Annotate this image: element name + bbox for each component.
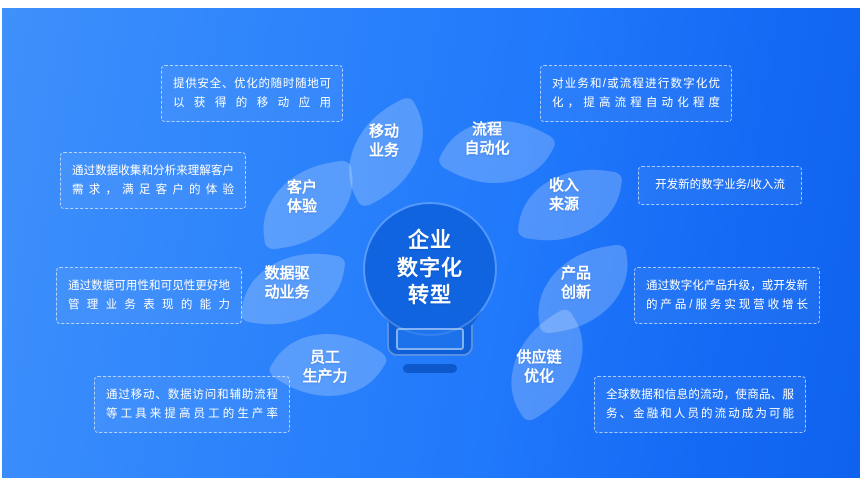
petal-label-line: 产品 bbox=[538, 264, 614, 283]
center-title: 企业 数字化 转型 bbox=[365, 204, 495, 334]
petal-label-mobile-business: 移动 业务 bbox=[349, 122, 419, 160]
callout-employee-productivity[interactable]: 通过移动、数据访问和辅助流程等工具来提高员工的生产率 bbox=[94, 376, 290, 433]
center-title-line: 企业 bbox=[408, 229, 452, 254]
petal-label-line: 移动 bbox=[349, 122, 419, 141]
petal-label-line: 自动化 bbox=[448, 139, 526, 158]
callout-product-innovation[interactable]: 通过数字化产品升级，或开发新的产品/服务实现营收增长 bbox=[634, 267, 820, 324]
petal-label-line: 创新 bbox=[538, 283, 614, 302]
petal-label-line: 体验 bbox=[264, 197, 340, 216]
center-title-line: 转型 bbox=[408, 284, 452, 309]
petal-label-line: 来源 bbox=[527, 195, 601, 214]
light-bulb-icon: 企业 数字化 转型 bbox=[365, 204, 495, 394]
petal-label-supply-chain-optimization: 供应链 优化 bbox=[498, 348, 580, 386]
callout-mobile-business[interactable]: 提供安全、优化的随时随地可以获得的移动应用 bbox=[161, 65, 343, 122]
bulb-base bbox=[403, 364, 457, 373]
petal-label-line: 收入 bbox=[527, 176, 601, 195]
petal-label-line: 业务 bbox=[349, 141, 419, 160]
petal-label-customer-experience: 客户 体验 bbox=[264, 178, 340, 216]
petal-label-line: 供应链 bbox=[498, 348, 580, 367]
callout-revenue-source[interactable]: 开发新的数字业务/收入流 bbox=[638, 166, 802, 205]
petal-label-product-innovation: 产品 创新 bbox=[538, 264, 614, 302]
petal-label-line: 优化 bbox=[498, 367, 580, 386]
petal-label-employee-productivity: 员工 生产力 bbox=[287, 348, 363, 386]
petal-label-line: 数据驱 bbox=[246, 264, 328, 283]
callout-supply-chain-optimization[interactable]: 全球数据和信息的流动，使商品、服务、金融和人员的流动成为可能 bbox=[594, 376, 806, 433]
petal-label-revenue-source: 收入 来源 bbox=[527, 176, 601, 214]
petal-label-line: 生产力 bbox=[287, 367, 363, 386]
callout-customer-experience[interactable]: 通过数据收集和分析来理解客户需求，满足客户的体验 bbox=[60, 152, 246, 209]
center-title-line: 数字化 bbox=[397, 257, 463, 282]
callout-process-automation[interactable]: 对业务和/或流程进行数字化优化，提高流程自动化程度 bbox=[540, 65, 732, 122]
petal-label-data-driven-business: 数据驱 动业务 bbox=[246, 264, 328, 302]
petal-label-line: 流程 bbox=[448, 120, 526, 139]
petal-label-line: 动业务 bbox=[246, 283, 328, 302]
infographic-stage: 移动 业务 流程 自动化 客户 体验 收入 来源 数据驱 动业务 产品 创新 员… bbox=[0, 0, 862, 480]
petal-label-line: 客户 bbox=[264, 178, 340, 197]
callout-data-driven-business[interactable]: 通过数据可用性和可见性更好地管理业务表现的能力 bbox=[56, 267, 242, 324]
petal-label-line: 员工 bbox=[287, 348, 363, 367]
petal-label-process-automation: 流程 自动化 bbox=[448, 120, 526, 158]
infographic-canvas: 移动 业务 流程 自动化 客户 体验 收入 来源 数据驱 动业务 产品 创新 员… bbox=[2, 8, 860, 478]
